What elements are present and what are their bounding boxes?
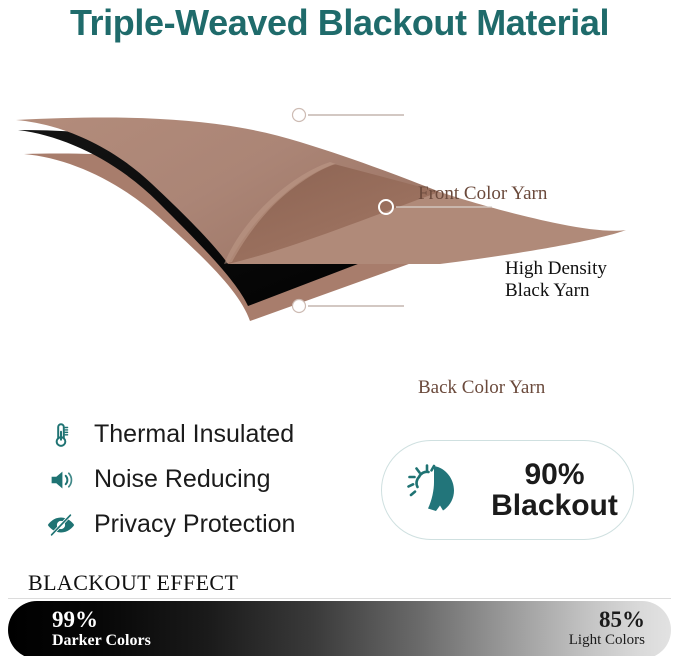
blackout-effect-heading: BLACKOUT EFFECT [28,570,238,596]
sun-behind-curtain-icon [398,457,470,523]
speaker-icon [44,463,78,497]
callout-label-high-density-line1: High Density [505,258,607,279]
callout-label-back: Back Color Yarn [418,377,545,399]
blackout-effect-gradient-bar: 99% Darker Colors 85% Light Colors [8,601,671,656]
eye-off-icon [44,508,78,542]
feature-label-thermal-insulated: Thermal Insulated [94,420,294,449]
callout-leader-back [293,300,405,313]
gradient-bar-left-value: 99% Darker Colors [52,608,151,650]
blackout-badge-text: 90% Blackout [476,459,633,522]
fabric-layers-diagram: Front Color Yarn High Density Black Yarn… [0,78,679,358]
blackout-badge-percent: 90% [524,458,584,491]
infographic-page: Triple-Weaved Blackout Material [0,0,679,656]
gradient-bar-left-caption: Darker Colors [52,632,151,650]
callout-label-high-density-line2: Black Yarn [505,280,589,301]
feature-label-noise-reducing: Noise Reducing [94,465,271,494]
feature-label-privacy-protection: Privacy Protection [94,510,295,539]
feature-item-noise-reducing: Noise Reducing [44,457,374,502]
thermometer-icon [44,418,78,452]
callout-label-front: Front Color Yarn [418,183,547,205]
page-title: Triple-Weaved Blackout Material [0,2,679,44]
feature-list: Thermal Insulated Noise Reducing [44,412,374,547]
gradient-bar-right-percent: 85% [569,608,645,632]
callout-label-high-density: High Density Black Yarn [505,258,665,302]
blackout-badge: 90% Blackout [381,440,634,540]
blackout-effect-divider [8,598,671,599]
blackout-badge-word: Blackout [491,489,618,522]
gradient-bar-right-caption: Light Colors [569,632,645,649]
feature-item-thermal-insulated: Thermal Insulated [44,412,374,457]
callout-leader-front [293,109,405,122]
gradient-bar-left-percent: 99% [52,608,151,632]
feature-item-privacy-protection: Privacy Protection [44,502,374,547]
gradient-bar-right-value: 85% Light Colors [569,608,645,649]
